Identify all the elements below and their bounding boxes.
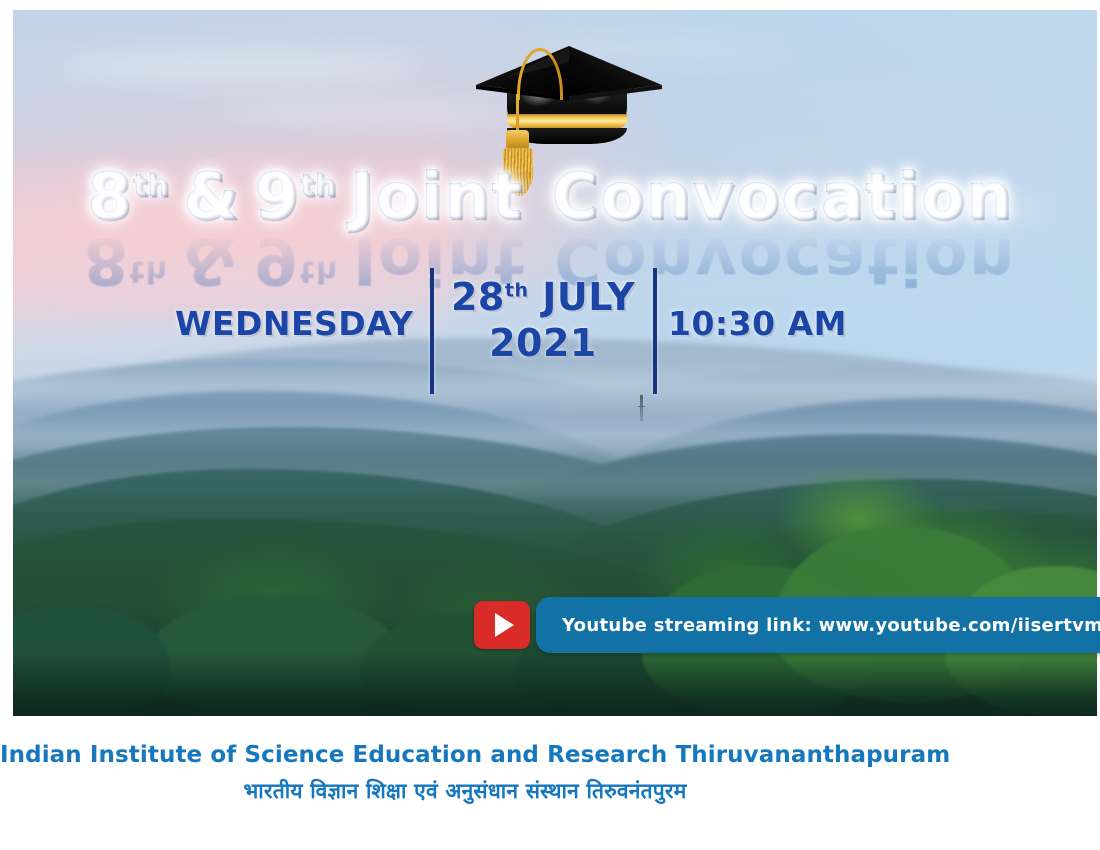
- tassel-cord-drop: [516, 94, 519, 134]
- footer: Indian Institute of Science Education an…: [0, 716, 1100, 850]
- title-ordinal-8-suffix: th: [133, 169, 169, 204]
- graduation-cap-icon: [455, 22, 685, 182]
- title-ampersand: &: [183, 160, 240, 234]
- event-date-month: JULY: [542, 275, 635, 319]
- title-ordinal-9-suffix: th: [300, 169, 336, 204]
- title-ordinal-9: 9: [254, 160, 300, 234]
- youtube-streaming-row[interactable]: Youtube streaming link: www.youtube.com/…: [474, 597, 1100, 653]
- cap-mortarboard: [474, 44, 664, 120]
- divider-right: [653, 268, 657, 394]
- title-ordinal-8: 8: [87, 160, 133, 234]
- institute-name-english: Indian Institute of Science Education an…: [0, 742, 930, 768]
- event-date-year: 2021: [440, 320, 646, 366]
- page-title: 8th&9thJointConvocation: [0, 165, 1100, 229]
- event-date-line: 28th JULY: [440, 274, 646, 320]
- cloud-streak: [56, 52, 425, 80]
- event-date-day-suffix: th: [505, 279, 529, 301]
- event-date-block: 28th JULY 2021: [440, 274, 646, 367]
- title-text: 8th&9thJointConvocation: [87, 165, 1013, 229]
- title-word-convocation: Convocation: [551, 160, 1013, 234]
- event-weekday: WEDNESDAY: [175, 304, 413, 343]
- event-time: 10:30 AM: [668, 304, 847, 343]
- event-date-day: 28: [451, 275, 505, 319]
- youtube-link-banner[interactable]: Youtube streaming link: www.youtube.com/…: [536, 597, 1100, 653]
- divider-left: [430, 268, 434, 394]
- youtube-link-text: Youtube streaming link: www.youtube.com/…: [562, 615, 1100, 636]
- institute-name-hindi: भारतीय विज्ञान शिक्षा एवं अनुसंधान संस्थ…: [0, 777, 930, 805]
- canopy-shadow: [13, 652, 1097, 716]
- youtube-play-icon[interactable]: [474, 601, 530, 649]
- event-details-row: WEDNESDAY 28th JULY 2021 10:30 AM: [0, 262, 1100, 394]
- title-word-joint: Joint: [350, 160, 523, 234]
- convocation-poster: 8th&9thJointConvocation 8th&9thJointConv…: [0, 0, 1100, 850]
- tassel-knot: [506, 130, 529, 150]
- institute-names: Indian Institute of Science Education an…: [0, 742, 930, 805]
- play-triangle: [495, 613, 514, 637]
